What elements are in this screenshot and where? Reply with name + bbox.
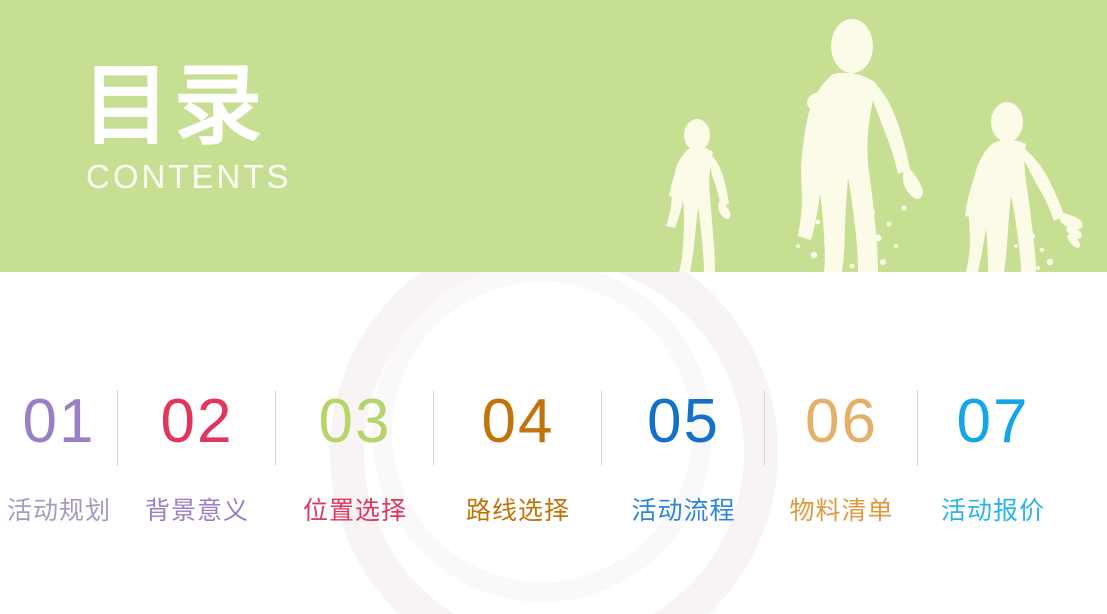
slide-header: 目录 CONTENTS — [0, 0, 1107, 272]
item-number-04: 04 — [434, 378, 602, 466]
content-item-05[interactable]: 05 活动流程 — [602, 378, 765, 543]
runner-left — [666, 119, 730, 272]
content-item-02[interactable]: 02 背景意义 — [118, 378, 276, 543]
runners-silhouette-icon — [630, 0, 1107, 272]
item-number-01: 01 — [0, 378, 118, 466]
contents-list: 01 活动规划 02 背景意义 03 位置选择 04 路线选择 05 活动流程 … — [0, 378, 1107, 543]
contents-slide: 目录 CONTENTS — [0, 0, 1107, 614]
item-label-03: 位置选择 — [276, 494, 434, 528]
content-item-04[interactable]: 04 路线选择 — [434, 378, 602, 543]
content-item-07[interactable]: 07 活动报价 — [918, 378, 1068, 543]
runner-center — [796, 19, 923, 272]
page-title: 目录 — [82, 62, 502, 150]
content-item-06[interactable]: 06 物料清单 — [765, 378, 918, 543]
item-number-07: 07 — [918, 378, 1068, 466]
item-number-02: 02 — [118, 378, 276, 466]
runner-right — [965, 102, 1083, 272]
item-label-01: 活动规划 — [0, 494, 118, 528]
item-number-05: 05 — [602, 378, 765, 466]
content-item-01[interactable]: 01 活动规划 — [0, 378, 118, 543]
item-number-06: 06 — [765, 378, 918, 466]
page-subtitle: CONTENTS — [86, 160, 502, 193]
item-label-06: 物料清单 — [765, 494, 918, 528]
item-label-05: 活动流程 — [602, 494, 765, 528]
item-label-04: 路线选择 — [434, 494, 602, 528]
header-title-block: 目录 CONTENTS — [82, 62, 502, 193]
content-item-03[interactable]: 03 位置选择 — [276, 378, 434, 543]
item-number-03: 03 — [276, 378, 434, 466]
item-label-07: 活动报价 — [918, 494, 1068, 528]
item-label-02: 背景意义 — [118, 494, 276, 528]
